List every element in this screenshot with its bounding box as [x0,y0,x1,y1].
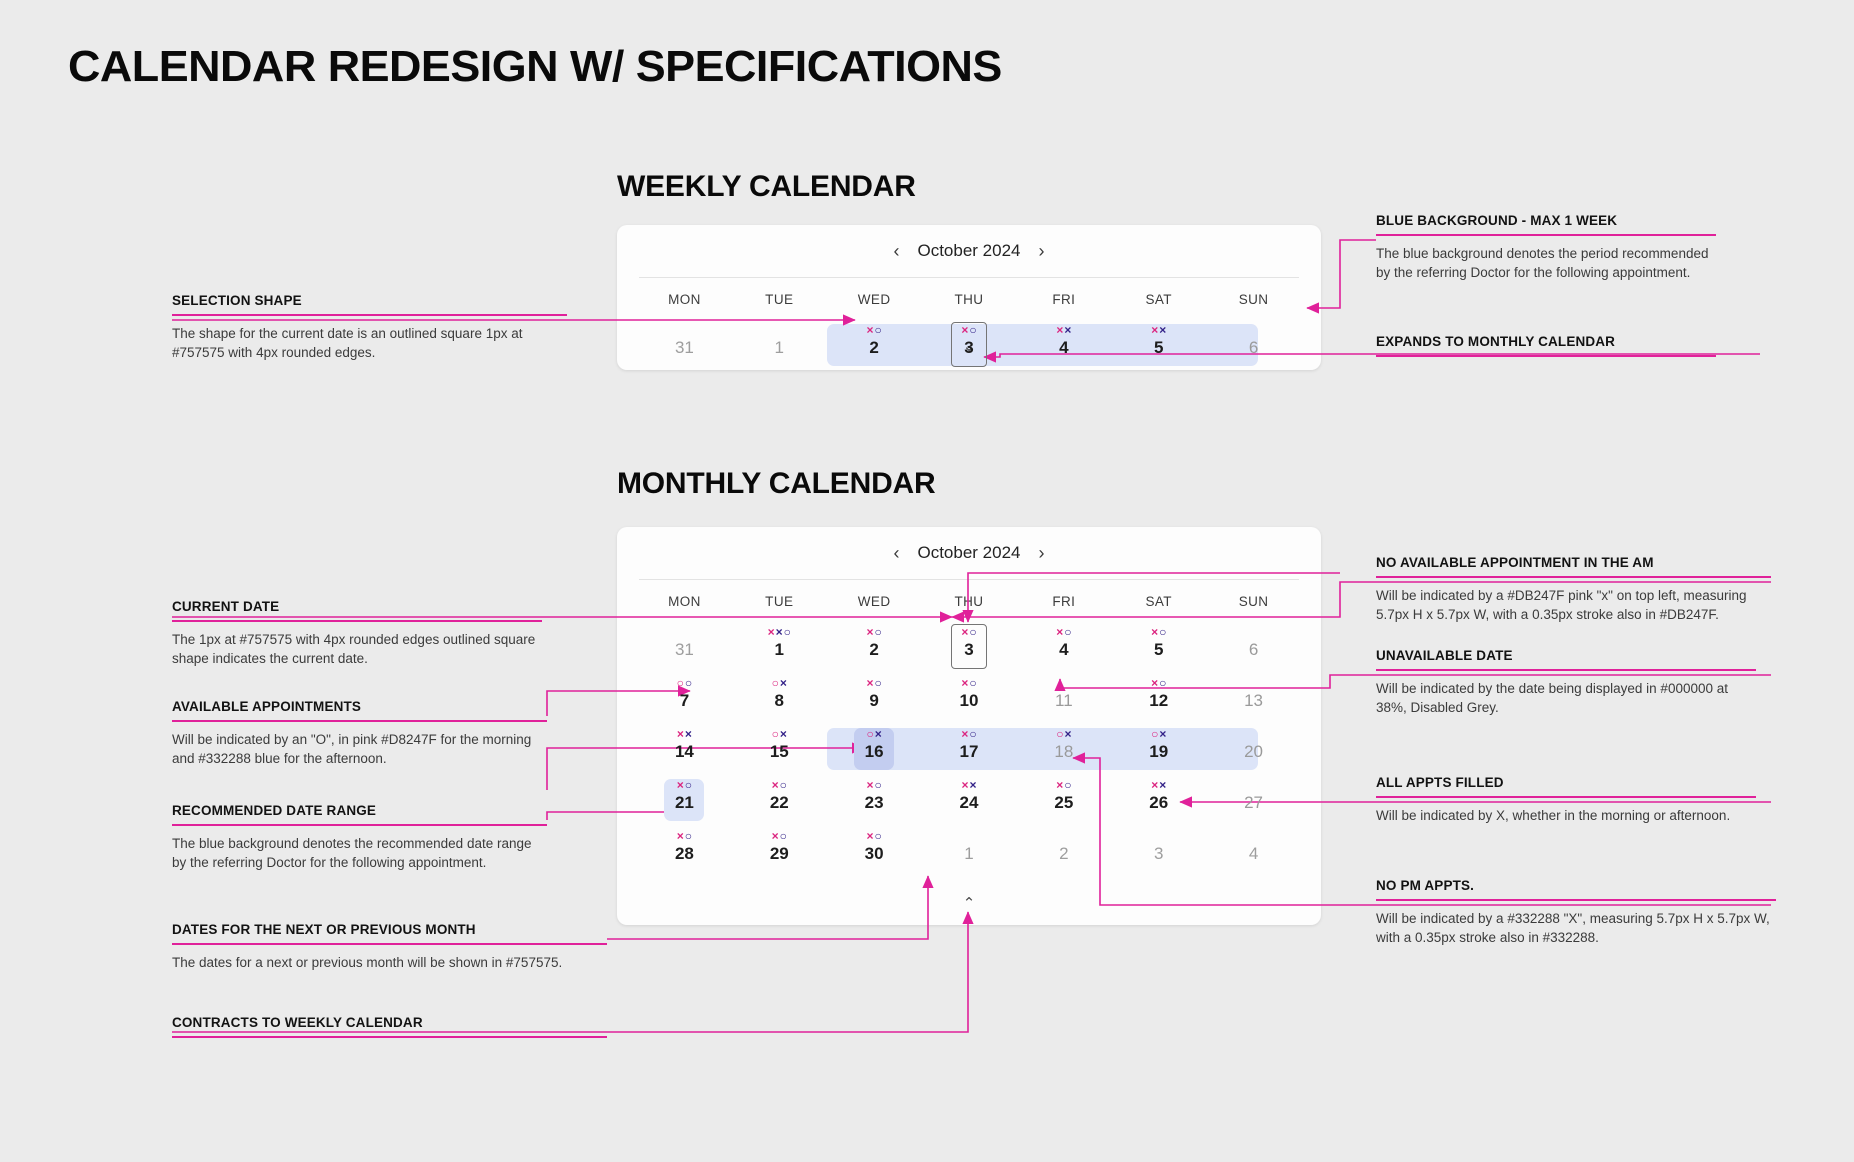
day-cell-5[interactable]: ××5 [1111,320,1206,371]
day-number: 31 [675,639,694,661]
mark-x-blue-icon: × [969,779,976,791]
annotation-body: Will be indicated by a #DB247F pink "x" … [1376,578,1771,624]
day-number: 30 [865,843,884,865]
availability-marks: ×× [1151,324,1166,336]
availability-marks: ×○ [772,830,787,842]
annotation-next-prev-month: DATES FOR THE NEXT OR PREVIOUS MONTH The… [172,922,607,972]
day-cell-24[interactable]: ××24 [922,775,1017,826]
day-number: 25 [1054,792,1073,814]
day-cell-10[interactable]: ×○10 [922,673,1017,724]
day-cell-27[interactable]: 27 [1206,775,1301,826]
weekday-header-row: MONTUEWEDTHUFRISATSUN [617,580,1321,622]
mark-x-pink-icon: × [961,779,968,791]
day-cell-2[interactable]: ×○2 [827,622,922,673]
day-number: 18 [1054,741,1073,763]
day-cell-25[interactable]: ×○25 [1016,775,1111,826]
mark-x-blue-icon: × [1159,324,1166,336]
mark-x-pink-icon: × [677,779,684,791]
day-cell-15[interactable]: ○×15 [732,724,827,775]
day-cell-16[interactable]: ○×16 [827,724,922,775]
day-cell-20[interactable]: 20 [1206,724,1301,775]
day-number: 7 [680,690,689,712]
mark-o-blue-icon: ○ [780,779,787,791]
monthly-week-row: 31××○1×○2×○3×○4×○56 [617,622,1321,673]
availability-marks: ×○ [867,779,882,791]
day-cell-1[interactable]: 1 [732,320,827,371]
day-cell-31[interactable]: 31 [637,320,732,371]
mark-o-pink-icon: ○ [677,677,684,689]
day-cell-30[interactable]: ×○30 [827,826,922,877]
day-cell-17[interactable]: ×○17 [922,724,1017,775]
mark-o-blue-icon: ○ [1064,626,1071,638]
day-cell-28[interactable]: ×○28 [637,826,732,877]
annotation-body: The blue background denotes the recommen… [172,826,547,872]
weekday-label-wed: WED [827,594,922,609]
weekday-label-sun: SUN [1206,594,1301,609]
mark-x-pink-icon: × [772,779,779,791]
day-number: 19 [1149,741,1168,763]
day-cell-31[interactable]: 31 [637,622,732,673]
annotation-contracts-to-weekly: CONTRACTS TO WEEKLY CALENDAR [172,1015,607,1038]
day-number: 28 [675,843,694,865]
mark-x-pink-icon: × [677,830,684,842]
annotation-expands-to-monthly: EXPANDS TO MONTHLY CALENDAR [1376,334,1716,357]
annotation-no-am-appointment: NO AVAILABLE APPOINTMENT IN THE AM Will … [1376,555,1771,624]
day-cell-21[interactable]: ×○21 [637,775,732,826]
monthly-week-row: ○○7○×8×○9×○1011×○1213 [617,673,1321,724]
day-number: 20 [1244,741,1263,763]
monthly-week-row: ××14○×15○×16×○17○×18○×1920 [617,724,1321,775]
annotation-title: NO PM APPTS. [1376,878,1776,899]
day-cell-29[interactable]: ×○29 [732,826,827,877]
month-label: October 2024 [917,543,1020,563]
day-number: 1 [964,843,973,865]
mark-o-blue-icon: ○ [969,728,976,740]
day-number: 9 [869,690,878,712]
monthly-week-row: ×○28×○29×○301234 [617,826,1321,877]
day-number: 8 [775,690,784,712]
availability-marks: ×○ [867,324,882,336]
day-cell-7[interactable]: ○○7 [637,673,732,724]
availability-marks: ○× [772,677,787,689]
day-cell-22[interactable]: ×○22 [732,775,827,826]
mark-x-blue-icon: × [776,626,783,638]
next-month-icon[interactable]: › [1039,242,1045,260]
day-number: 6 [1249,639,1258,661]
availability-marks: ×○ [1056,626,1071,638]
prev-month-icon[interactable]: ‹ [893,544,899,562]
annotation-title: EXPANDS TO MONTHLY CALENDAR [1376,334,1716,355]
day-number: 2 [869,639,878,661]
mark-o-blue-icon: ○ [1064,779,1071,791]
annotation-body: Will be indicated by X, whether in the m… [1376,798,1756,825]
mark-o-blue-icon: ○ [875,677,882,689]
mark-x-pink-icon: × [1151,324,1158,336]
annotation-unavailable-date: UNAVAILABLE DATE Will be indicated by th… [1376,648,1756,717]
availability-marks: ×× [1151,779,1166,791]
mark-o-blue-icon: ○ [1159,677,1166,689]
annotation-title: AVAILABLE APPOINTMENTS [172,699,547,720]
mark-x-pink-icon: × [867,830,874,842]
day-cell-14[interactable]: ××14 [637,724,732,775]
mark-x-pink-icon: × [961,728,968,740]
weekly-calendar-header: ‹ October 2024 › [617,225,1321,277]
day-number: 12 [1149,690,1168,712]
availability-marks: ×○ [1151,626,1166,638]
day-number: 24 [960,792,979,814]
mark-o-blue-icon: ○ [784,626,791,638]
mark-x-pink-icon: × [1056,779,1063,791]
weekday-label-mon: MON [637,292,732,307]
mark-x-blue-icon: × [1159,779,1166,791]
mark-o-blue-icon: ○ [685,677,692,689]
day-number: 22 [770,792,789,814]
availability-marks: ○× [867,728,882,740]
mark-x-pink-icon: × [1151,677,1158,689]
day-cell-13[interactable]: 13 [1206,673,1301,724]
weekday-label-tue: TUE [732,594,827,609]
mark-o-blue-icon: ○ [875,830,882,842]
day-cell-6[interactable]: 6 [1206,320,1301,371]
day-cell-3[interactable]: ×○3 [922,320,1017,371]
mark-x-pink-icon: × [768,626,775,638]
availability-marks: ×○ [772,779,787,791]
annotation-title: BLUE BACKGROUND - MAX 1 WEEK [1376,213,1716,234]
mark-o-blue-icon: ○ [875,779,882,791]
day-number: 5 [1154,337,1163,359]
day-cell-19[interactable]: ○×19 [1111,724,1206,775]
mark-o-pink-icon: ○ [867,728,874,740]
mark-x-blue-icon: × [1064,324,1071,336]
mark-x-pink-icon: × [867,324,874,336]
weekday-label-tue: TUE [732,292,827,307]
monthly-week-row: ×○21×○22×○23××24×○25××2627 [617,775,1321,826]
annotation-recommended-date-range: RECOMMENDED DATE RANGE The blue backgrou… [172,803,547,872]
mark-x-blue-icon: × [780,677,787,689]
mark-x-pink-icon: × [1056,324,1063,336]
collapse-chevron-up-icon[interactable]: ⌃ [617,894,1321,912]
day-number: 27 [1244,792,1263,814]
weekly-date-row: 311×○2×○3××4××56 [617,320,1321,371]
mark-o-blue-icon: ○ [875,626,882,638]
day-number: 29 [770,843,789,865]
day-number: 4 [1059,337,1068,359]
day-cell-2[interactable]: 2 [1016,826,1111,877]
weekday-label-sun: SUN [1206,292,1301,307]
monthly-date-grid: 31××○1×○2×○3×○4×○56○○7○×8×○9×○1011×○1213… [617,622,1321,877]
annotation-body: The blue background denotes the period r… [1376,236,1716,282]
day-number: 1 [775,337,784,359]
availability-marks: ×× [1056,324,1071,336]
month-label: October 2024 [917,241,1020,261]
annotation-title: UNAVAILABLE DATE [1376,648,1756,669]
availability-marks: ○× [1151,728,1166,740]
mark-x-pink-icon: × [867,779,874,791]
mark-x-blue-icon: × [1159,728,1166,740]
day-number: 31 [675,337,694,359]
annotation-selection-shape: SELECTION SHAPE The shape for the curren… [172,293,567,362]
availability-marks: ×○ [1151,677,1166,689]
annotation-rule [172,1036,607,1038]
weekday-label-fri: FRI [1016,594,1111,609]
availability-marks: ×○ [1056,779,1071,791]
mark-x-blue-icon: × [685,728,692,740]
day-cell-23[interactable]: ×○23 [827,775,922,826]
availability-marks: ×○ [867,677,882,689]
mark-x-pink-icon: × [867,626,874,638]
mark-x-blue-icon: × [1064,728,1071,740]
annotation-body: Will be indicated by a #332288 "X", meas… [1376,901,1776,947]
day-cell-4[interactable]: ××4 [1016,320,1111,371]
annotation-current-date: CURRENT DATE The 1px at #757575 with 4px… [172,599,542,668]
annotation-body: The dates for a next or previous month w… [172,945,607,972]
mark-o-blue-icon: ○ [780,830,787,842]
page-title: CALENDAR REDESIGN W/ SPECIFICATIONS [68,42,1002,92]
mark-o-blue-icon: ○ [1159,626,1166,638]
day-cell-9[interactable]: ×○9 [827,673,922,724]
annotation-body: Will be indicated by the date being disp… [1376,671,1756,717]
mark-o-pink-icon: ○ [1151,728,1158,740]
day-number: 10 [960,690,979,712]
next-month-icon[interactable]: › [1039,544,1045,562]
day-cell-1[interactable]: ××○1 [732,622,827,673]
weekly-calendar-card: ‹ October 2024 › MONTUEWEDTHUFRISATSUN 3… [617,225,1321,370]
day-cell-1[interactable]: 1 [922,826,1017,877]
annotation-rule [1376,355,1716,357]
day-number: 14 [675,741,694,763]
day-number: 15 [770,741,789,763]
mark-x-pink-icon: × [1151,626,1158,638]
availability-marks: ×× [961,779,976,791]
mark-o-blue-icon: ○ [875,324,882,336]
day-number: 17 [960,741,979,763]
day-cell-3[interactable]: ×○3 [922,622,1017,673]
annotation-all-appts-filled: ALL APPTS FILLED Will be indicated by X,… [1376,775,1756,825]
annotation-blue-background: BLUE BACKGROUND - MAX 1 WEEK The blue ba… [1376,213,1716,282]
current-date-outline [951,322,987,367]
day-number: 4 [1249,843,1258,865]
weekday-label-thu: THU [922,292,1017,307]
availability-marks: ×○ [677,830,692,842]
availability-marks: ×○ [867,626,882,638]
weekday-label-mon: MON [637,594,732,609]
day-number: 13 [1244,690,1263,712]
day-number: 3 [1154,843,1163,865]
mark-x-blue-icon: × [780,728,787,740]
annotation-body: The shape for the current date is an out… [172,316,567,362]
day-cell-26[interactable]: ××26 [1111,775,1206,826]
day-cell-11[interactable]: 11 [1016,673,1111,724]
mark-o-pink-icon: ○ [1056,728,1063,740]
annotation-body: The 1px at #757575 with 4px rounded edge… [172,622,542,668]
annotation-title: ALL APPTS FILLED [1376,775,1756,796]
annotation-title: NO AVAILABLE APPOINTMENT IN THE AM [1376,555,1771,576]
mark-x-pink-icon: × [1056,626,1063,638]
availability-marks: ×○ [867,830,882,842]
day-cell-3[interactable]: 3 [1111,826,1206,877]
day-cell-2[interactable]: ×○2 [827,320,922,371]
day-cell-18[interactable]: ○×18 [1016,724,1111,775]
mark-o-blue-icon: ○ [685,779,692,791]
day-number: 2 [1059,843,1068,865]
day-number: 4 [1059,639,1068,661]
day-number: 5 [1154,639,1163,661]
annotation-body: Will be indicated by an "O", in pink #D8… [172,722,547,768]
day-number: 16 [865,741,884,763]
annotation-title: SELECTION SHAPE [172,293,567,314]
availability-marks: ×× [677,728,692,740]
monthly-calendar-header: ‹ October 2024 › [617,527,1321,579]
day-number: 1 [775,639,784,661]
mark-o-blue-icon: ○ [685,830,692,842]
day-cell-12[interactable]: ×○12 [1111,673,1206,724]
mark-x-pink-icon: × [677,728,684,740]
current-date-outline [951,624,987,669]
availability-marks: ×○ [961,677,976,689]
weekday-label-sat: SAT [1111,292,1206,307]
day-number: 23 [865,792,884,814]
weekday-label-wed: WED [827,292,922,307]
day-cell-6[interactable]: 6 [1206,622,1301,673]
day-number: 26 [1149,792,1168,814]
mark-o-blue-icon: ○ [969,677,976,689]
annotation-no-pm-appts: NO PM APPTS. Will be indicated by a #332… [1376,878,1776,947]
prev-month-icon[interactable]: ‹ [893,242,899,260]
mark-x-pink-icon: × [961,677,968,689]
monthly-calendar-card: ‹ October 2024 › MONTUEWEDTHUFRISATSUN 3… [617,527,1321,925]
day-number: 21 [675,792,694,814]
weekday-label-thu: THU [922,594,1017,609]
availability-marks: ×○ [961,728,976,740]
weekday-label-sat: SAT [1111,594,1206,609]
day-cell-5[interactable]: ×○5 [1111,622,1206,673]
availability-marks: ××○ [768,626,791,638]
annotation-title: DATES FOR THE NEXT OR PREVIOUS MONTH [172,922,607,943]
section-heading-weekly: WEEKLY CALENDAR [617,170,916,204]
weekday-header-row: MONTUEWEDTHUFRISATSUN [617,278,1321,320]
day-number: 6 [1249,337,1258,359]
mark-x-pink-icon: × [772,830,779,842]
availability-marks: ×○ [677,779,692,791]
mark-o-pink-icon: ○ [772,728,779,740]
section-heading-monthly: MONTHLY CALENDAR [617,467,935,501]
mark-x-pink-icon: × [867,677,874,689]
availability-marks: ○× [1056,728,1071,740]
day-cell-8[interactable]: ○×8 [732,673,827,724]
annotation-title: CONTRACTS TO WEEKLY CALENDAR [172,1015,607,1036]
weekday-label-fri: FRI [1016,292,1111,307]
availability-marks: ○○ [677,677,693,689]
mark-x-pink-icon: × [1151,779,1158,791]
annotation-title: RECOMMENDED DATE RANGE [172,803,547,824]
day-cell-4[interactable]: 4 [1206,826,1301,877]
mark-o-pink-icon: ○ [772,677,779,689]
availability-marks: ○× [772,728,787,740]
mark-x-blue-icon: × [875,728,882,740]
day-cell-4[interactable]: ×○4 [1016,622,1111,673]
annotation-available-appointments: AVAILABLE APPOINTMENTS Will be indicated… [172,699,547,768]
annotation-title: CURRENT DATE [172,599,542,620]
day-number: 11 [1055,690,1073,712]
day-number: 2 [869,337,878,359]
